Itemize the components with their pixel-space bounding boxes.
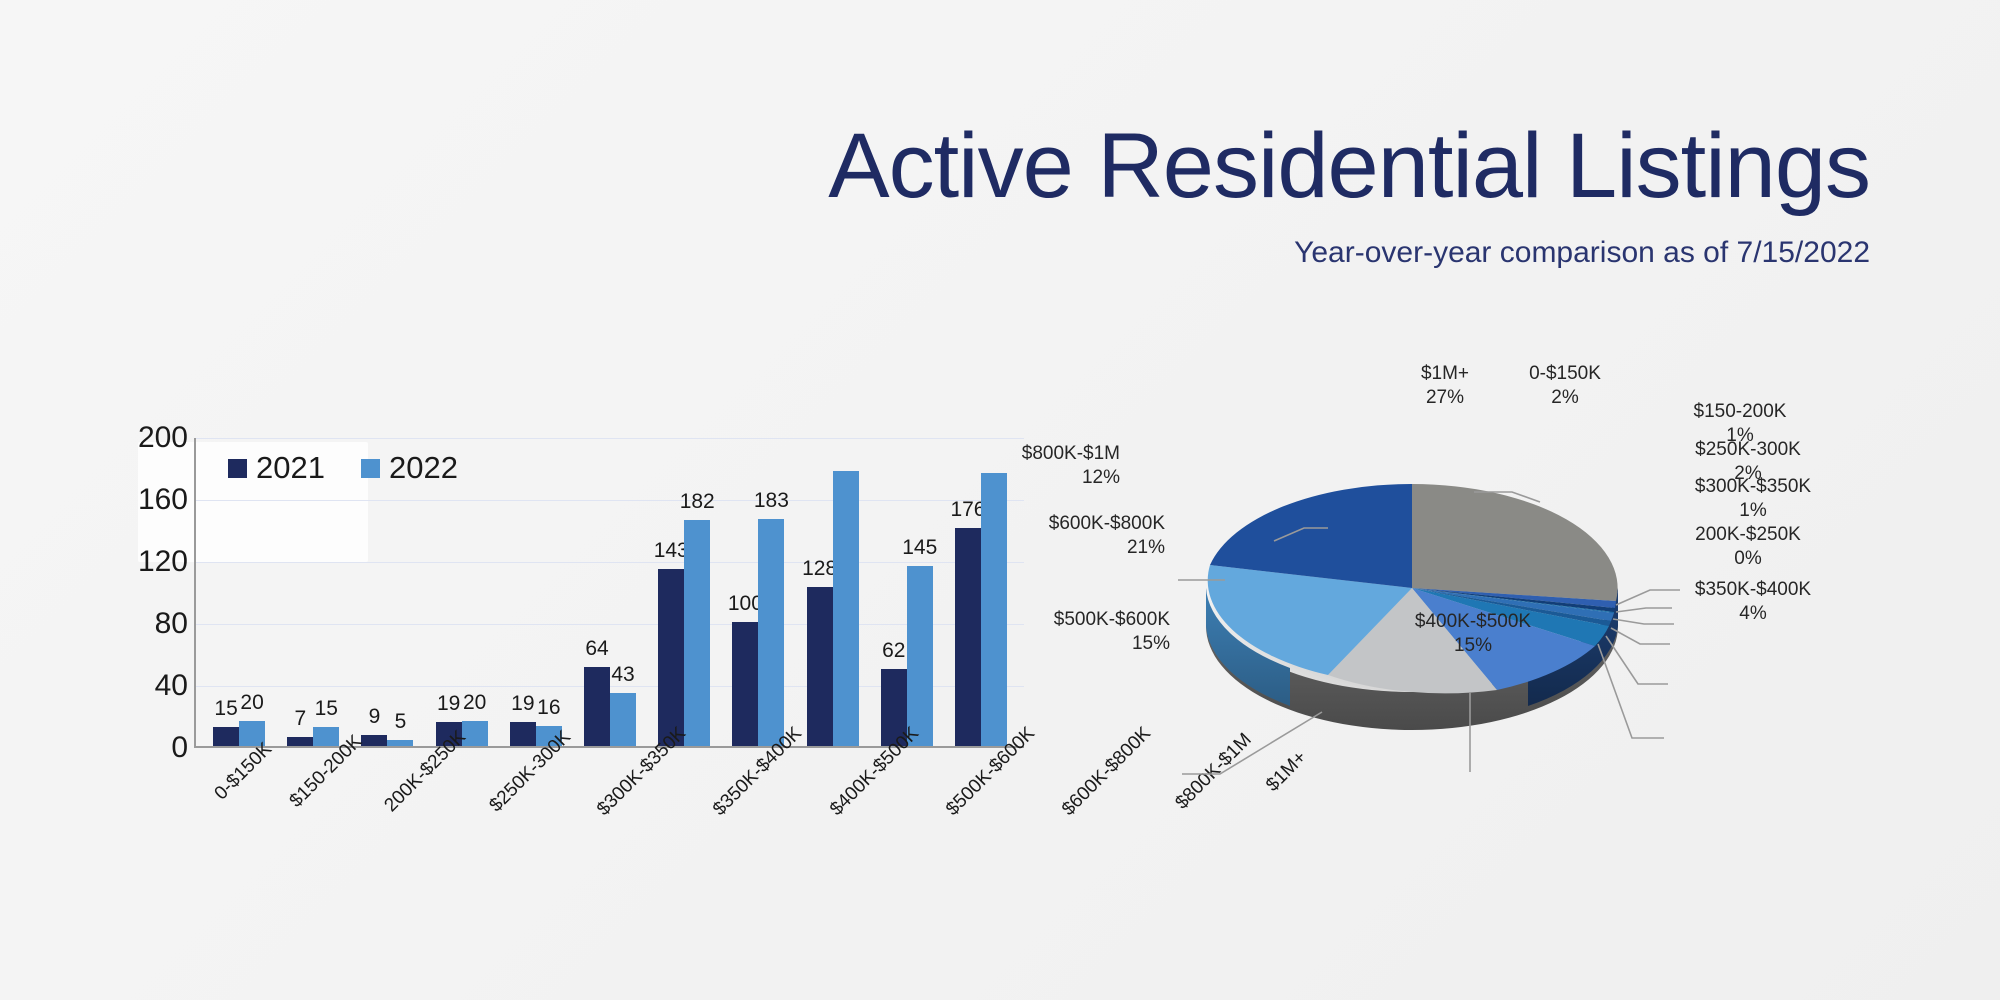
- y-tick-label: 0: [171, 731, 188, 765]
- bar-group: 128: [796, 438, 870, 746]
- legend-item-2021[interactable]: 2021: [228, 450, 325, 486]
- bar-value-label: 182: [680, 490, 715, 514]
- pie-callout-1m-plus: $1M+ 27%: [1390, 362, 1500, 410]
- x-axis-category-labels: 0-$150K$150-200K200K-$250K$250K-300K$300…: [194, 756, 1024, 876]
- bar-2022-$500K-$600K[interactable]: 183: [758, 519, 784, 746]
- bar-value-label: 20: [463, 691, 486, 715]
- y-axis-tick-labels: 20016012080400: [126, 420, 188, 750]
- pie-callout-600k-800k: $600K-$800K 21%: [855, 512, 1165, 560]
- bar-value-label: 16: [537, 696, 560, 720]
- page-title: Active Residential Listings: [0, 120, 1870, 214]
- bar-value-label: 7: [294, 707, 306, 731]
- pie-callout-400k-500k: $400K-$500K 15%: [1378, 610, 1568, 658]
- bar-value-label: 5: [395, 710, 407, 734]
- y-tick-label: 80: [155, 607, 188, 641]
- bar-group: 143182: [647, 438, 721, 746]
- bar-2021-$400K-$500K[interactable]: 143: [658, 569, 684, 746]
- pie-callout-500k-600k: $500K-$600K 15%: [850, 608, 1170, 656]
- bar-value-label: 9: [369, 705, 381, 729]
- bar-2021-$600K-$800K[interactable]: 128: [807, 587, 833, 746]
- bar-2021-$150-200K[interactable]: 7: [287, 737, 313, 746]
- bar-2021-$350K-$400K[interactable]: 64: [584, 667, 610, 746]
- bar-value-label: 183: [754, 489, 789, 513]
- pie-callout-350k-400k: $350K-$400K 4%: [1658, 578, 1848, 626]
- pie-callout-0-150k: 0-$150K 2%: [1500, 362, 1630, 410]
- bar-2021-0-$150K[interactable]: 15: [213, 727, 239, 746]
- legend-item-2022[interactable]: 2022: [361, 450, 458, 486]
- bar-value-label: 43: [611, 663, 634, 687]
- y-tick-label: 200: [138, 421, 188, 455]
- pie-callout-300k-350k: $300K-$350K 1%: [1658, 475, 1848, 523]
- bar-2022-$150-200K[interactable]: 15: [313, 727, 339, 746]
- header: Active Residential Listings Year-over-ye…: [0, 120, 1870, 270]
- bar-2022-$800K-$1M[interactable]: 145: [907, 566, 933, 746]
- bar-chart-legend: 2021 2022: [228, 450, 458, 486]
- y-tick-label: 120: [138, 545, 188, 579]
- y-tick-label: 160: [138, 483, 188, 517]
- legend-swatch-2022-icon: [361, 459, 380, 478]
- bar-2022-$350K-$400K[interactable]: 43: [610, 693, 636, 746]
- bar-2021-$500K-$600K[interactable]: 100: [732, 622, 758, 746]
- bar-group: 1916: [499, 438, 573, 746]
- slide-canvas: Active Residential Listings Year-over-ye…: [0, 0, 2000, 1000]
- pie-callout-200k-250k: 200K-$250K 0%: [1658, 523, 1838, 571]
- y-tick-label: 40: [155, 669, 188, 703]
- bar-value-label: 19: [511, 692, 534, 716]
- page-subtitle: Year-over-year comparison as of 7/15/202…: [0, 236, 1870, 270]
- bar-2021-$300K-$350K[interactable]: 19: [510, 722, 536, 746]
- legend-swatch-2021-icon: [228, 459, 247, 478]
- pie-callout-800k-1m: $800K-$1M 12%: [890, 442, 1120, 490]
- bar-value-label: 15: [315, 697, 338, 721]
- bar-value-label: 19: [437, 692, 460, 716]
- bar-value-label: 20: [240, 691, 263, 715]
- legend-label-2022: 2022: [389, 450, 458, 486]
- bar-group: 100183: [721, 438, 795, 746]
- legend-label-2021: 2021: [256, 450, 325, 486]
- pie-chart: $800K-$1M 12% $1M+ 27% 0-$150K 2% $150-2…: [1060, 420, 1940, 890]
- bar-value-label: 15: [214, 697, 237, 721]
- bar-group: 6443: [573, 438, 647, 746]
- bar-2022-$400K-$500K[interactable]: 182: [684, 520, 710, 746]
- bar-value-label: 64: [585, 637, 608, 661]
- bar-2022-200K-$250K[interactable]: 5: [387, 740, 413, 746]
